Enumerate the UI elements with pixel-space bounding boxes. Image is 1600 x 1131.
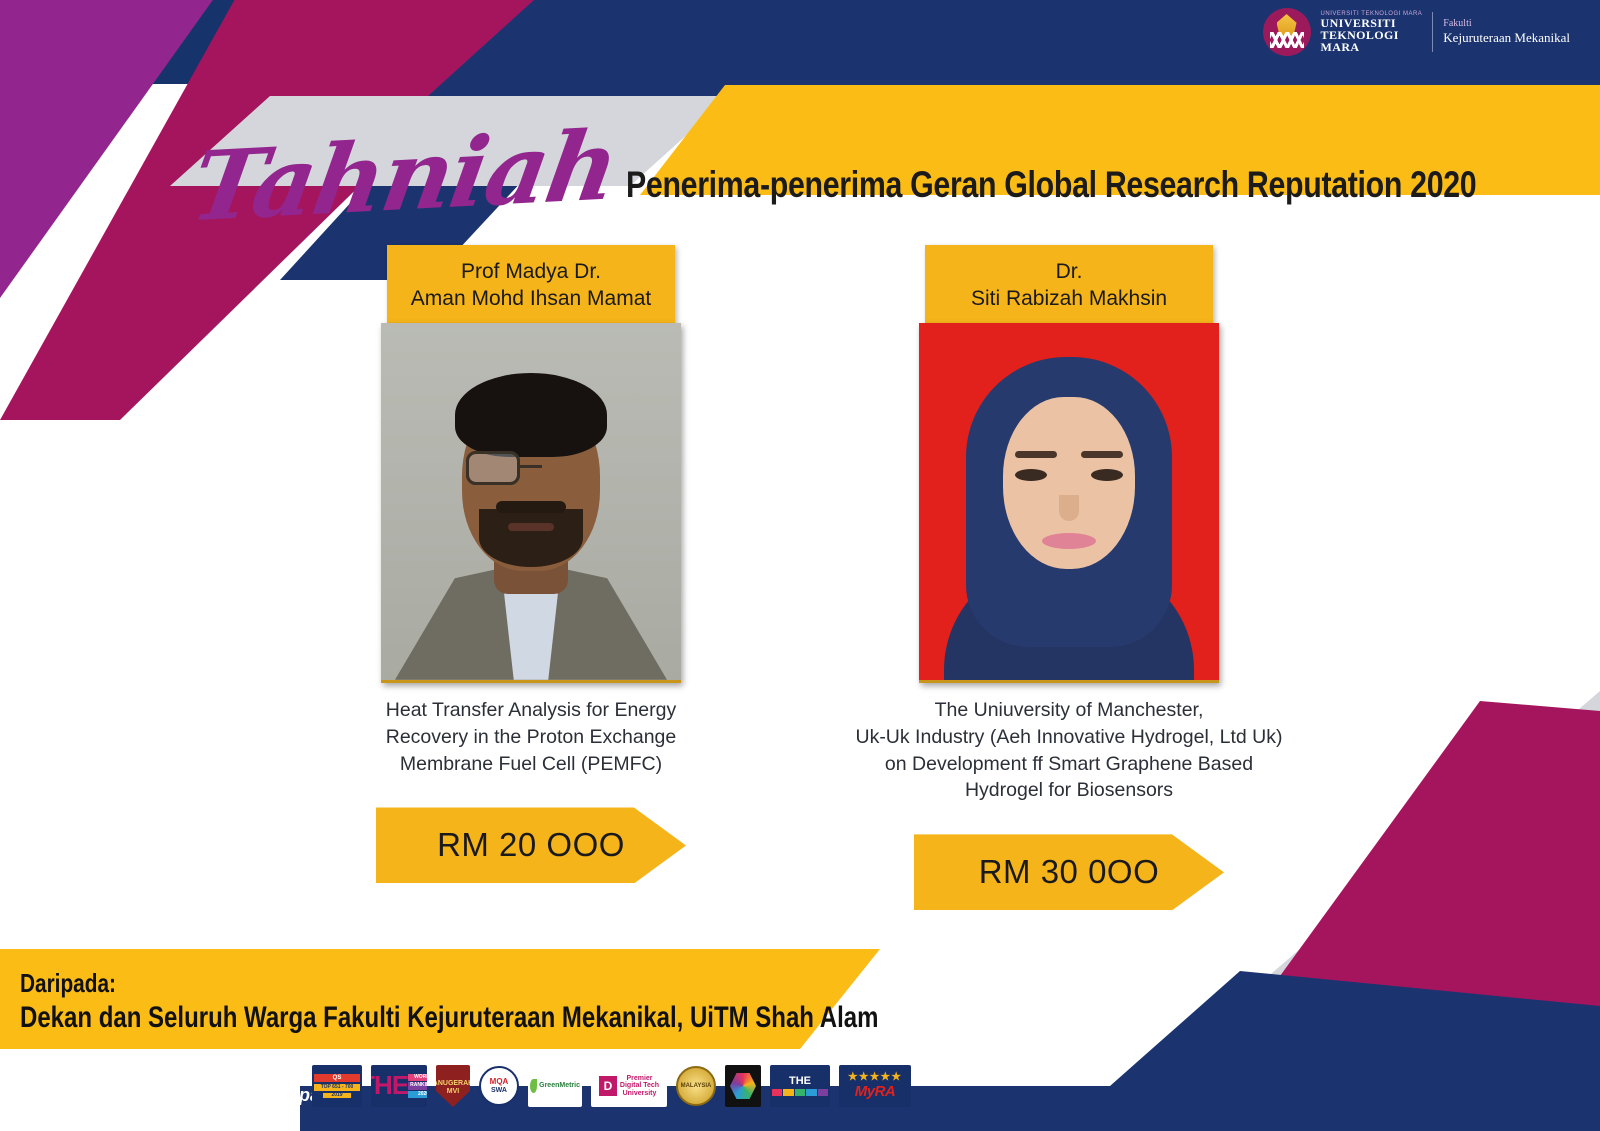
rgb-hexagon-logo [725, 1065, 761, 1107]
star-rating-icon: ★★★★★ [848, 1072, 902, 1083]
uitm-tagline: Menyerlahkan Potensi Membentuk Masa Hada… [34, 1061, 331, 1107]
faculty-name: Kejuruteraan Mekanikal [1443, 30, 1570, 46]
faculty-lockup: Fakulti Kejuruteraan Mekanikal [1443, 18, 1570, 47]
pd-line3: University [620, 1090, 659, 1097]
headline-row: Tahniah Penerima-penerima Geran Global R… [195, 128, 1600, 224]
ui-greenmetric-logo: GreenMetric [528, 1065, 582, 1107]
tahniah-script-word: Tahniah [185, 117, 641, 236]
recipient-title: Prof Madya Dr. [395, 259, 667, 286]
shield-logo-line2: MVI [447, 1088, 459, 1095]
grant-amount-banner: RM 30 0OO [914, 834, 1224, 910]
project-line: The Uniuversity of Manchester, [854, 697, 1284, 724]
qs-logo-line2: TOP 651 - 700 [314, 1084, 360, 1091]
hexagon-icon [730, 1073, 756, 1099]
recipient-name: Aman Mohd Ihsan Mamat [395, 286, 667, 313]
uitm-crest-icon [1263, 8, 1311, 56]
tagline-line2: Membentuk Masa Hadapan [100, 1085, 331, 1105]
accreditation-seal-logo: MQA SWA [479, 1066, 519, 1106]
qs-logo-line1: QS [314, 1074, 360, 1082]
sender-block: Daripada: Dekan dan Seluruh Warga Fakult… [20, 968, 1093, 1035]
recipient-card: Prof Madya Dr. Aman Mohd Ihsan Mamat Hea… [371, 245, 691, 910]
malaysia-gold-seal-logo: MALAYSIA [676, 1066, 716, 1106]
seal-logo-line2: SWA [491, 1087, 507, 1094]
uitm-wordmark: UNIVERSITI TEKNOLOGI MARA UNIVERSITI TEK… [1321, 11, 1423, 54]
project-line: Recovery in the Proton Exchange [341, 724, 721, 751]
myra-rating-logo: ★★★★★ MyRA [839, 1065, 911, 1107]
faculty-label: Fakulti [1443, 18, 1570, 31]
recipient-card: Dr. Siti Rabizah Makhsin The Uniuversity… [909, 245, 1229, 910]
the-logo-line3: RANKINGS [408, 1082, 427, 1089]
greenmetric-label: GreenMetric [539, 1082, 580, 1089]
recipient-name-plate: Dr. Siti Rabizah Makhsin [925, 245, 1213, 323]
project-line: Uk-Uk Industry (Aeh Innovative Hydrogel,… [854, 724, 1284, 751]
tagline-line1: Menyerlahkan Potensi [76, 1062, 266, 1082]
qs-logo-line3: 2019 [323, 1093, 351, 1098]
uitm-logo-lockup: UNIVERSITI TEKNOLOGI MARA UNIVERSITI TEK… [1263, 8, 1570, 56]
premier-digital-tech-university-logo: D Premier Digital Tech University [591, 1065, 667, 1107]
impact-logo-mark: THE [789, 1076, 811, 1088]
recipient-photo [381, 323, 681, 683]
anugerah-shield-logo: ANUGERAH MVI [436, 1065, 470, 1107]
pd-mark-icon: D [599, 1076, 617, 1096]
the-logo-mark: THE [371, 1072, 408, 1099]
sender-label: Daripada: [20, 968, 878, 999]
recipient-title: Dr. [933, 259, 1205, 286]
myra-label: MyRA [855, 1084, 896, 1100]
tagline-dash-icon [34, 1069, 68, 1078]
project-line: Membrane Fuel Cell (PEMFC) [341, 751, 721, 778]
the-ranking-logo: THE WORLD RANKINGS 2020 [371, 1065, 427, 1107]
gold-seal-label: MALAYSIA [681, 1083, 712, 1089]
pd-line2: Digital Tech [620, 1082, 659, 1089]
project-line: Heat Transfer Analysis for Energy [341, 697, 721, 724]
the-logo-line2: WORLD [408, 1074, 427, 1081]
logo-divider [1432, 12, 1433, 52]
recipient-name: Siti Rabizah Makhsin [933, 286, 1205, 313]
recipient-name-plate: Prof Madya Dr. Aman Mohd Ihsan Mamat [387, 245, 675, 323]
sender-text: Dekan dan Seluruh Warga Fakulti Kejurute… [20, 1001, 878, 1035]
qs-ranking-logo: QS TOP 651 - 700 2019 [312, 1065, 362, 1107]
the-impact-ranking-logo: THE [770, 1065, 830, 1107]
recipient-photo [919, 323, 1219, 683]
leaf-icon [530, 1079, 537, 1093]
project-line: Hydrogel for Biosensors [854, 777, 1284, 804]
tagline-dash-icon [58, 1092, 92, 1101]
seal-logo-line1: MQA [490, 1078, 509, 1086]
uitm-wordmark-line3: MARA [1321, 41, 1423, 53]
shield-logo-line1: ANUGERAH [436, 1080, 470, 1087]
poster-canvas: UNIVERSITI TEKNOLOGI MARA UNIVERSITI TEK… [0, 0, 1600, 1131]
project-line: on Development ff Smart Graphene Based [854, 751, 1284, 778]
recipient-project: The Uniuversity of Manchester, Uk-Uk Ind… [854, 697, 1284, 805]
pd-line1: Premier [620, 1075, 659, 1082]
recipient-cards: Prof Madya Dr. Aman Mohd Ihsan Mamat Hea… [0, 245, 1600, 910]
page-title: Penerima-penerima Geran Global Research … [626, 164, 1476, 206]
grant-amount-banner: RM 20 OOO [376, 807, 686, 883]
the-logo-line4: 2020 [408, 1091, 427, 1098]
recipient-project: Heat Transfer Analysis for Energy Recove… [341, 697, 721, 778]
accreditation-logo-strip: QS TOP 651 - 700 2019 THE WORLD RANKINGS… [312, 1061, 911, 1111]
